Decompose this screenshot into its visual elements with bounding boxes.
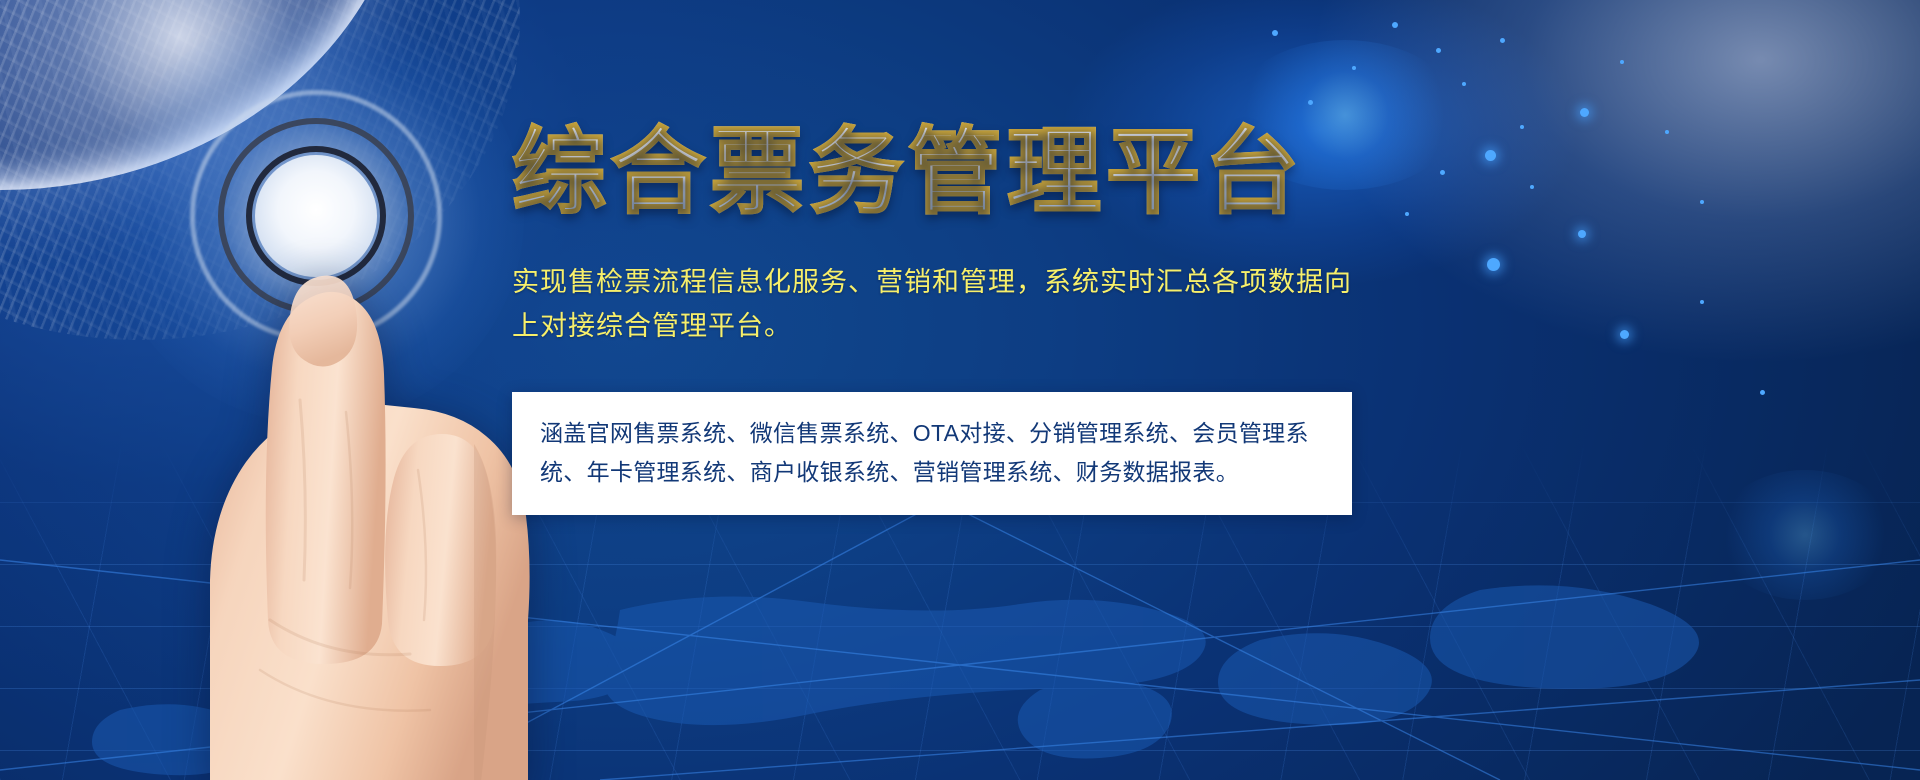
earth-sphere [0,0,410,190]
particle-dot [1352,66,1356,70]
particle-dot [1440,170,1445,175]
earth-atmosphere-limb [0,0,410,190]
particle-dot [1760,390,1765,395]
particle-dot [1308,100,1313,105]
particle-dot [1578,230,1586,238]
particle-dot [1462,82,1466,86]
particle-dot [1530,185,1534,189]
page-subtitle: 实现售检票流程信息化服务、营销和管理，系统实时汇总各项数据向上对接综合管理平台。 [512,261,1362,348]
particle-dot [1405,212,1409,216]
particle-dot [1700,200,1704,204]
touch-ripple-rings [178,78,454,354]
feature-list-box: 涵盖官网售票系统、微信售票系统、OTA对接、分销管理系统、会员管理系统、年卡管理… [512,392,1352,515]
ripple-core [255,155,377,277]
index-finger [266,292,386,664]
particle-dot [1500,38,1505,43]
particle-dot [1620,60,1624,64]
particle-dot [1620,330,1629,339]
particle-dot [1580,108,1589,117]
hand-palm [210,402,530,780]
particle-dot [1665,130,1669,134]
earth-cloud-texture [0,0,520,340]
particle-dot [1272,30,1278,36]
hero-banner: 综合票务管理平台 实现售检票流程信息化服务、营销和管理，系统实时汇总各项数据向上… [0,0,1920,780]
ripple-ring-outer [190,90,442,342]
particle-dot [1392,22,1398,28]
particle-dot [1520,125,1524,129]
particle-dot [1485,150,1496,161]
feature-list-text: 涵盖官网售票系统、微信售票系统、OTA对接、分销管理系统、会员管理系统、年卡管理… [540,414,1324,491]
earth-globe-graphic [0,0,520,340]
particle-dot [1436,48,1441,53]
banner-text-block: 综合票务管理平台 实现售检票流程信息化服务、营销和管理，系统实时汇总各项数据向上… [512,120,1392,349]
particle-dot [1700,300,1704,304]
ripple-ring-middle [218,118,414,314]
hand-shadow [474,444,496,780]
glow-blob-lower [1715,470,1895,600]
fingernail [289,276,357,367]
particle-dot [1487,258,1500,271]
middle-finger [385,434,496,666]
ripple-glow [108,8,524,424]
ripple-ring-inner [246,146,386,286]
page-title: 综合票务管理平台 [512,120,1392,225]
